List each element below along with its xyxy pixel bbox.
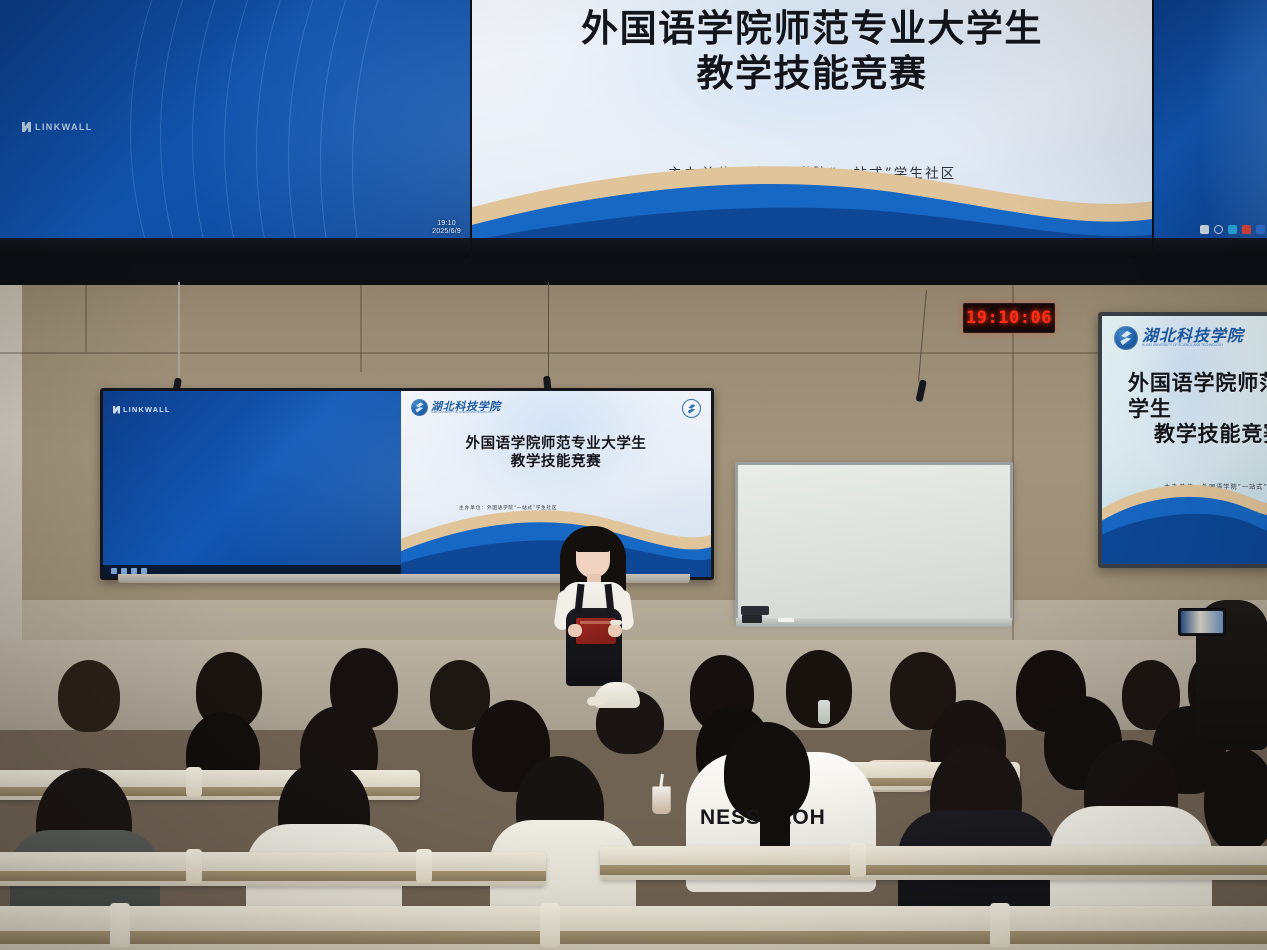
bench-post: [990, 903, 1010, 947]
bench-slat: [0, 931, 1267, 944]
toolbar-icon[interactable]: [111, 568, 117, 574]
bench-row-front: [600, 846, 1267, 880]
whiteboard-eraser[interactable]: [742, 615, 762, 623]
slide-title-mirror: 外国语学院师范专业大学生 教学技能竞赛: [401, 435, 711, 470]
bench-post: [850, 843, 866, 877]
taskbar-clock-date: 2025/6/9: [432, 228, 461, 236]
university-name-en: HUBEI UNIVERSITY OF SCIENCE AND TECHNOLO…: [431, 412, 495, 415]
mic-boom-rod-1: [178, 282, 180, 382]
bench-row-nearest: [0, 906, 1267, 950]
water-bottle: [818, 700, 830, 724]
bench-post: [186, 767, 202, 797]
top-display-wall: LINKWALL 19:10 2025/6/9 外国语学院师范专业大学生 教学技…: [0, 0, 1267, 285]
led-wall-clock: 19:10:06: [963, 303, 1055, 333]
bench-post: [540, 903, 560, 947]
presenter-fringe: [573, 530, 613, 552]
slide-title-line1: 外国语学院师范专业大学生: [401, 435, 711, 453]
linkwall-brand-text: LINKWALL: [123, 405, 171, 414]
drink-cup: [652, 786, 671, 814]
university-logo-side: 湖北科技学院 HUBEI UNIVERSITY OF SCIENCE AND T…: [1114, 326, 1244, 350]
presenter-hand-left: [568, 624, 582, 637]
pdf-icon[interactable]: [1242, 225, 1251, 234]
top-right-display[interactable]: [1154, 0, 1267, 258]
cup-straw: [659, 774, 663, 789]
linkwall-mark-icon: [22, 122, 31, 132]
side-display[interactable]: 湖北科技学院 HUBEI UNIVERSITY OF SCIENCE AND T…: [1098, 312, 1267, 568]
browser-icon[interactable]: [1228, 225, 1237, 234]
bench-post: [186, 849, 202, 883]
slide-wave-graphic: [1102, 475, 1267, 564]
smartphone-recording[interactable]: [1178, 608, 1226, 636]
taskbar-clock-time: 19:10: [432, 220, 461, 228]
university-emblem-icon: [411, 399, 428, 416]
whiteboard-tray: [736, 618, 1012, 627]
presenter: [540, 520, 650, 685]
linkwall-brand-logo: LINKWALL: [22, 122, 93, 132]
taskbar-clock[interactable]: 19:10 2025/6/9: [432, 220, 461, 236]
bench-slat: [0, 871, 546, 881]
university-seal-icon: [682, 399, 701, 418]
top-left-display[interactable]: LINKWALL 19:10 2025/6/9: [0, 0, 470, 258]
podium-device[interactable]: [741, 606, 769, 615]
lecture-hall-photo: LINKWALL 19:10 2025/6/9 外国语学院师范专业大学生 教学技…: [0, 0, 1267, 950]
bench-post: [110, 903, 130, 947]
linkwall-brand-text: LINKWALL: [35, 122, 93, 132]
linkwall-mark-icon: [113, 406, 120, 414]
mic-cable-1: [548, 282, 549, 378]
presentation-slide-main: 外国语学院师范专业大学生 教学技能竞赛 主办单位： 外国语学院“一站式”学生社区…: [472, 0, 1152, 258]
files-icon[interactable]: [1200, 225, 1209, 234]
university-name-cn: 湖北科技学院: [1142, 328, 1244, 344]
blue-wallpaper: LINKWALL 19:10 2025/6/9: [0, 0, 470, 258]
taskbar-right[interactable]: [1200, 225, 1265, 234]
presenter-hand-right: [608, 624, 622, 637]
bench-post: [416, 849, 432, 883]
wall-edge-column: [0, 262, 22, 682]
university-logo: 湖北科技学院 HUBEI UNIVERSITY OF SCIENCE AND T…: [411, 399, 501, 416]
slide-title-line2: 教学技能竞赛: [1128, 421, 1267, 447]
search-icon[interactable]: [1214, 225, 1223, 234]
display-bezel: [0, 238, 470, 258]
slide-title: 外国语学院师范专业大学生 教学技能竞赛: [472, 6, 1152, 96]
whiteboard-marker[interactable]: [778, 618, 794, 622]
app-icon[interactable]: [1256, 225, 1265, 234]
main-display-blue-area: LINKWALL: [103, 391, 401, 577]
wall-seam-horizontal: [0, 352, 1267, 354]
slide-title-side: 外国语学院师范专业大学生 教学技能竞赛: [1128, 370, 1267, 447]
slide-title-line2: 教学技能竞赛: [472, 51, 1152, 96]
top-center-display[interactable]: 外国语学院师范专业大学生 教学技能竞赛 主办单位： 外国语学院“一站式”学生社区…: [472, 0, 1152, 258]
slide-title-line1: 外国语学院师范专业大学生: [472, 6, 1152, 51]
university-emblem-icon: [1114, 326, 1138, 350]
presentation-slide-side: 湖北科技学院 HUBEI UNIVERSITY OF SCIENCE AND T…: [1102, 316, 1267, 564]
display-bezel: [1154, 238, 1267, 258]
presenter-bracelet: [610, 620, 622, 625]
phone-screen: [1181, 611, 1223, 633]
slide-title-line1: 外国语学院师范专业大学生: [1128, 370, 1267, 421]
audience-head: [58, 660, 120, 732]
bench-slat: [600, 865, 1267, 875]
bench-row-front: [0, 852, 546, 886]
university-name-en: HUBEI UNIVERSITY OF SCIENCE AND TECHNOLO…: [1142, 344, 1236, 347]
audience-head: [1204, 748, 1267, 852]
led-clock-time: 19:10:06: [966, 308, 1052, 328]
blue-wallpaper-right: [1154, 0, 1267, 258]
linkwall-brand-logo-main: LINKWALL: [113, 405, 171, 414]
whiteboard[interactable]: [735, 462, 1013, 621]
slide-title-line2: 教学技能竞赛: [401, 453, 711, 471]
display-bezel: [472, 238, 1152, 258]
